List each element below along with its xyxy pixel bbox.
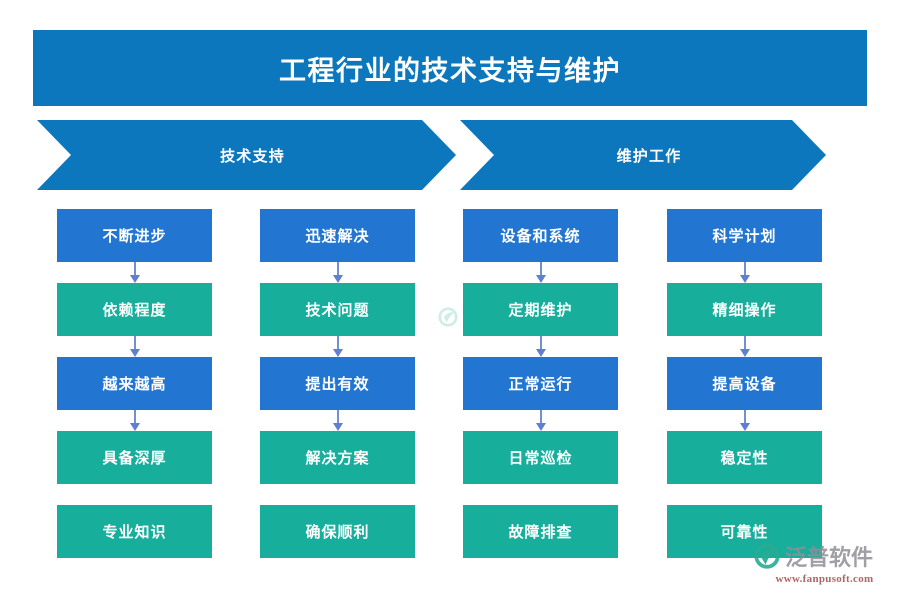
flow-box[interactable]: 故障排查 <box>463 505 618 558</box>
flow-box-label: 越来越高 <box>102 373 166 394</box>
flow-box-label: 确保顺利 <box>305 521 369 542</box>
flow-box[interactable]: 科学计划 <box>667 209 822 262</box>
brand-swoosh-icon <box>437 306 459 328</box>
flow-box[interactable]: 技术问题 <box>260 283 415 336</box>
flow-box[interactable]: 具备深厚 <box>57 431 212 484</box>
flow-box[interactable]: 提高设备 <box>667 357 822 410</box>
brand-url: www.fanpusoft.com <box>752 573 897 585</box>
flow-box[interactable]: 越来越高 <box>57 357 212 410</box>
flow-box[interactable]: 依赖程度 <box>57 283 212 336</box>
flow-box-label: 可靠性 <box>720 521 768 542</box>
flow-box[interactable]: 不断进步 <box>57 209 212 262</box>
flow-box[interactable]: 设备和系统 <box>463 209 618 262</box>
flow-box-label: 解决方案 <box>305 447 369 468</box>
flow-arrow-down-icon <box>331 410 345 431</box>
arrow-head <box>740 275 750 283</box>
flow-arrow-down-icon <box>128 336 142 357</box>
flow-arrow-down-icon <box>331 336 345 357</box>
flow-box[interactable]: 精细操作 <box>667 283 822 336</box>
flow-arrow-down-icon <box>738 410 752 431</box>
flow-box-label: 故障排查 <box>508 521 572 542</box>
flow-box-label: 科学计划 <box>712 225 776 246</box>
flow-arrow-down-icon <box>738 336 752 357</box>
flow-box-label: 依赖程度 <box>102 299 166 320</box>
arrow-head <box>536 423 546 431</box>
group-banner-maintenance-work: 维护工作 <box>460 120 826 190</box>
flow-arrow-down-icon <box>534 410 548 431</box>
arrow-head <box>333 275 343 283</box>
group-banner-label: 技术支持 <box>220 145 285 166</box>
flow-box-label: 迅速解决 <box>305 225 369 246</box>
flow-box[interactable]: 专业知识 <box>57 505 212 558</box>
arrow-head <box>130 423 140 431</box>
flow-box[interactable]: 日常巡检 <box>463 431 618 484</box>
flow-box-label: 不断进步 <box>102 225 166 246</box>
flow-box-label: 日常巡检 <box>508 447 572 468</box>
flow-arrow-down-icon <box>534 336 548 357</box>
flow-box[interactable]: 提出有效 <box>260 357 415 410</box>
flow-box-label: 定期维护 <box>508 299 572 320</box>
flow-arrow-down-icon <box>128 262 142 283</box>
flow-box[interactable]: 解决方案 <box>260 431 415 484</box>
flow-box[interactable]: 可靠性 <box>667 505 822 558</box>
flow-arrow-down-icon <box>738 262 752 283</box>
group-banner-technical-support: 技术支持 <box>37 120 456 190</box>
arrow-head <box>536 349 546 357</box>
diagram-canvas: 工程行业的技术支持与维护 技术支持 维护工作 泛普软件 泛普软件 不断进步依赖程… <box>0 0 900 600</box>
flow-box[interactable]: 确保顺利 <box>260 505 415 558</box>
flow-box-label: 专业知识 <box>102 521 166 542</box>
flow-box-label: 具备深厚 <box>102 447 166 468</box>
flow-box[interactable]: 稳定性 <box>667 431 822 484</box>
flow-arrow-down-icon <box>534 262 548 283</box>
arrow-head <box>536 275 546 283</box>
arrow-head <box>130 349 140 357</box>
arrow-head <box>130 275 140 283</box>
flow-box-label: 提出有效 <box>305 373 369 394</box>
flow-box-label: 设备和系统 <box>500 225 580 246</box>
page-title: 工程行业的技术支持与维护 <box>279 49 621 88</box>
flow-box-label: 稳定性 <box>720 447 768 468</box>
flow-box[interactable]: 迅速解决 <box>260 209 415 262</box>
flow-box[interactable]: 定期维护 <box>463 283 618 336</box>
arrow-head <box>333 423 343 431</box>
flow-box-label: 技术问题 <box>305 299 369 320</box>
arrow-head <box>740 423 750 431</box>
flow-arrow-down-icon <box>128 410 142 431</box>
group-banner-label: 维护工作 <box>617 145 682 166</box>
arrow-head <box>740 349 750 357</box>
flow-arrow-down-icon <box>331 262 345 283</box>
diagram-title-banner: 工程行业的技术支持与维护 <box>33 30 867 106</box>
flow-box-label: 正常运行 <box>508 373 572 394</box>
flow-box-label: 精细操作 <box>712 299 776 320</box>
flow-box[interactable]: 正常运行 <box>463 357 618 410</box>
flow-box-label: 提高设备 <box>712 373 776 394</box>
arrow-head <box>333 349 343 357</box>
